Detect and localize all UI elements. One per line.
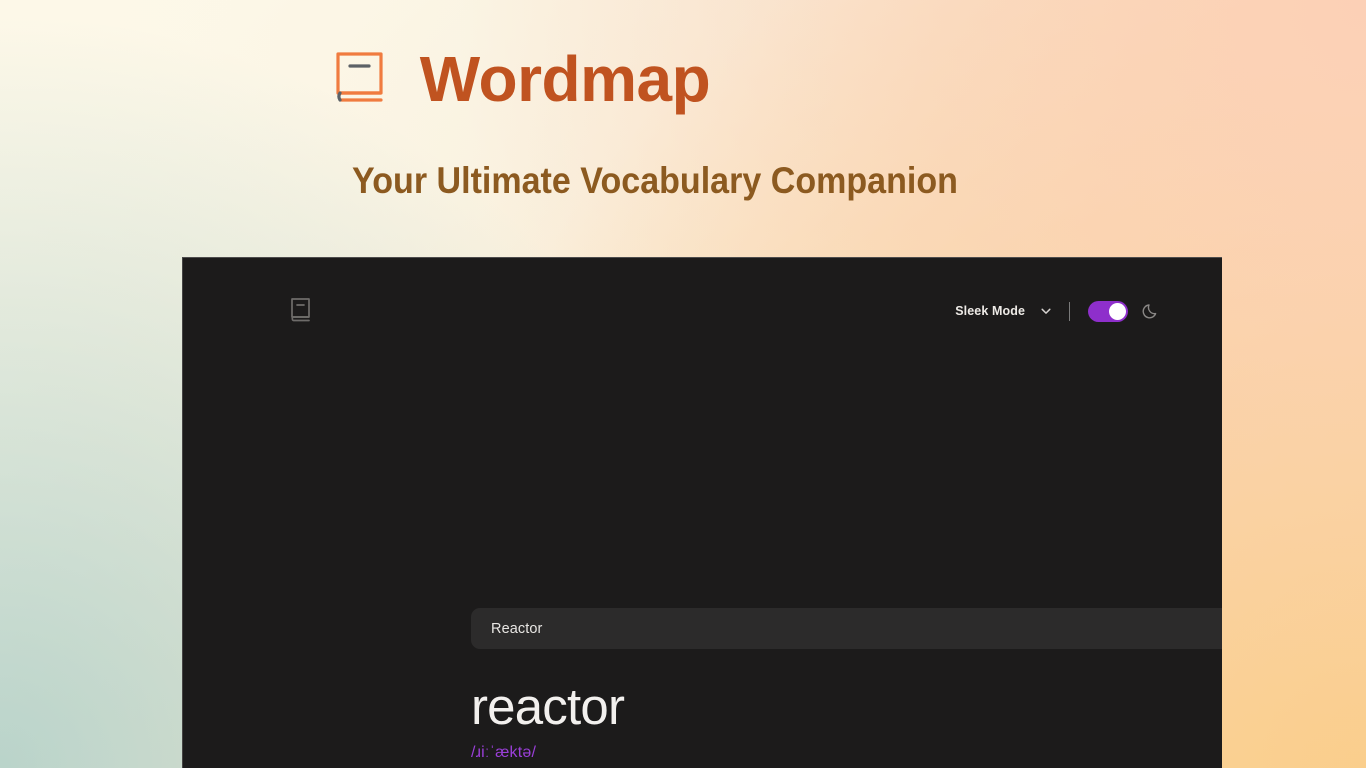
word-headword: reactor	[471, 678, 1222, 737]
theme-toggle[interactable]	[1088, 301, 1128, 322]
app-topbar: Sleek Mode	[289, 290, 1160, 332]
brand-title: Wordmap	[420, 47, 710, 111]
mode-selector-label[interactable]: Sleek Mode	[955, 304, 1025, 318]
book-icon[interactable]	[289, 297, 313, 325]
topbar-controls: Sleek Mode	[955, 301, 1160, 322]
moon-icon[interactable]	[1142, 302, 1160, 320]
chevron-down-icon[interactable]	[1039, 304, 1053, 318]
brand-row: Wordmap	[0, 46, 1036, 112]
hero-section: Wordmap Your Ultimate Vocabulary Compani…	[0, 0, 1366, 257]
hero-tagline: Your Ultimate Vocabulary Companion	[52, 160, 1257, 202]
app-panel: Sleek Mode Reactor	[182, 257, 1222, 768]
search-input-value[interactable]: Reactor	[491, 621, 1222, 637]
word-entry: reactor /ɹiːˈæktə/ noun Meaning A person…	[471, 678, 1222, 768]
toggle-knob	[1109, 303, 1126, 320]
topbar-divider	[1069, 302, 1070, 321]
book-icon	[326, 46, 392, 112]
word-phonetic: /ɹiːˈæktə/	[471, 744, 1222, 762]
search-input[interactable]: Reactor	[471, 608, 1222, 649]
